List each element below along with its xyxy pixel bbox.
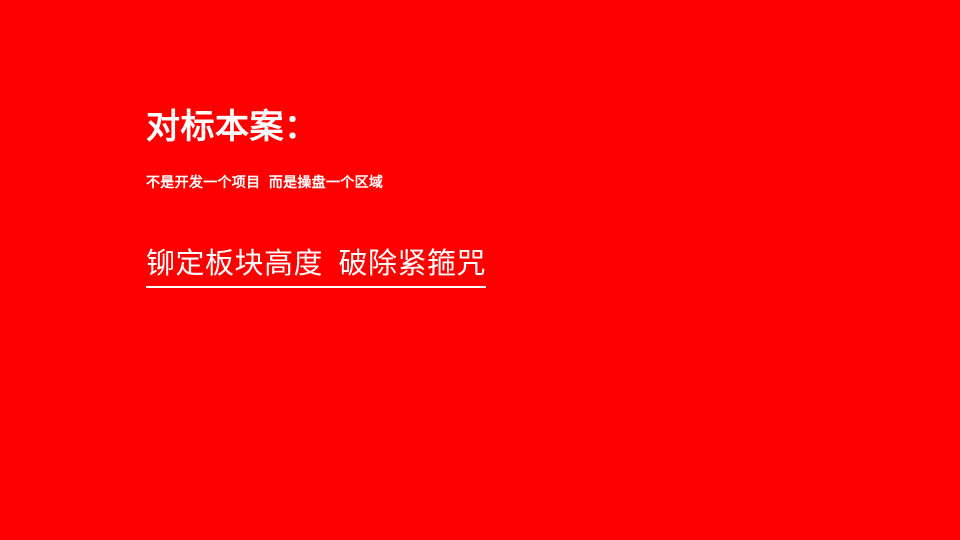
slide-title: 对标本案： bbox=[146, 105, 319, 149]
slide-headline: 铆定板块高度 破除紧箍咒 bbox=[146, 245, 486, 288]
slide-canvas: 对标本案： 不是开发一个项目 而是操盘一个区域 铆定板块高度 破除紧箍咒 bbox=[0, 0, 960, 540]
slide-headline-underlined-text: 铆定板块高度 破除紧箍咒 bbox=[146, 245, 486, 288]
slide-subtitle: 不是开发一个项目 而是操盘一个区域 bbox=[146, 172, 383, 192]
